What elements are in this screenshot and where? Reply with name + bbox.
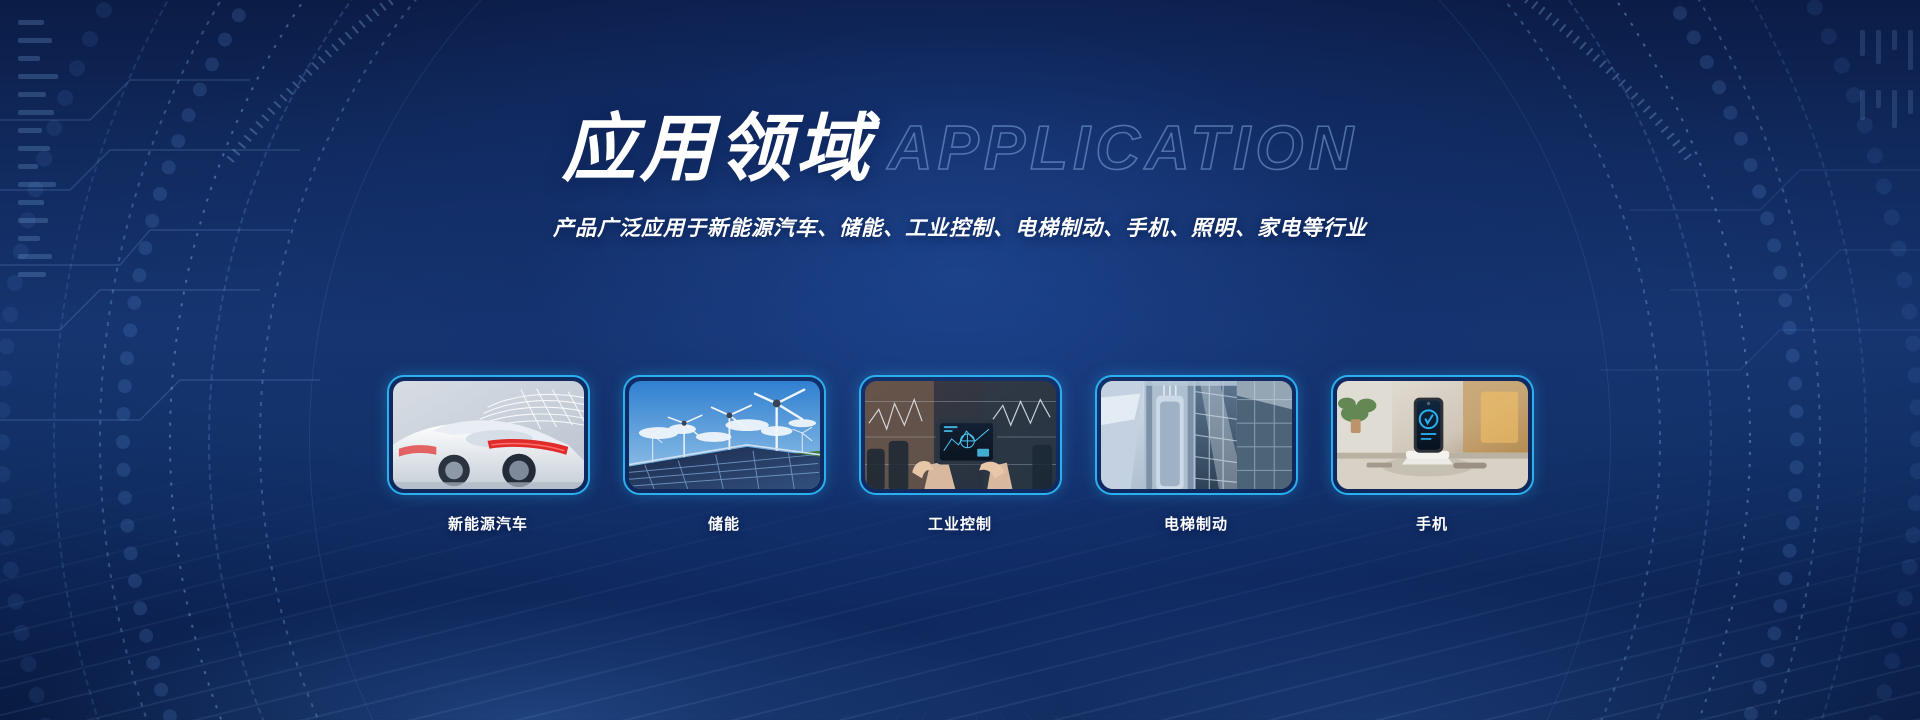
application-card-list: 新能源汽车 bbox=[0, 375, 1920, 534]
card-thumbnail bbox=[865, 381, 1056, 489]
application-banner: 应用领域APPLICATION 产品广泛应用于新能源汽车、储能、工业控制、电梯制… bbox=[0, 0, 1920, 720]
card-label: 电梯制动 bbox=[1095, 513, 1298, 534]
card-thumbnail bbox=[1337, 381, 1528, 489]
banner-heading: 应用领域APPLICATION 产品广泛应用于新能源汽车、储能、工业控制、电梯制… bbox=[0, 112, 1920, 242]
card-frame[interactable] bbox=[1331, 375, 1534, 495]
card-frame[interactable] bbox=[623, 375, 826, 495]
card-thumbnail bbox=[393, 381, 584, 489]
arc-decoration bbox=[0, 0, 1920, 720]
card-frame[interactable] bbox=[387, 375, 590, 495]
page-subtitle: 产品广泛应用于新能源汽车、储能、工业控制、电梯制动、手机、照明、家电等行业 bbox=[0, 212, 1920, 242]
industrial-control-tablet-icon bbox=[865, 381, 1056, 489]
arc-ticks bbox=[0, 0, 1920, 720]
card-label: 手机 bbox=[1331, 513, 1534, 534]
application-card[interactable]: 电梯制动 bbox=[1095, 375, 1298, 534]
card-frame[interactable] bbox=[859, 375, 1062, 495]
card-label: 储能 bbox=[623, 513, 826, 534]
card-thumbnail bbox=[629, 381, 820, 489]
perspective-grid-floor bbox=[0, 710, 1920, 720]
application-card[interactable]: 手机 bbox=[1331, 375, 1534, 534]
card-label: 新能源汽车 bbox=[387, 513, 590, 534]
application-card[interactable]: 储能 bbox=[623, 375, 826, 534]
elevator-shaft-icon bbox=[1101, 381, 1292, 489]
application-card[interactable]: 新能源汽车 bbox=[387, 375, 590, 534]
smartphone-wireless-charger-icon bbox=[1337, 381, 1528, 489]
wind-turbines-solar-panels-icon bbox=[629, 381, 820, 489]
page-title: 应用领域 bbox=[562, 112, 874, 186]
card-label: 工业控制 bbox=[859, 513, 1062, 534]
page-title-en: APPLICATION bbox=[888, 118, 1359, 180]
card-frame[interactable] bbox=[1095, 375, 1298, 495]
card-thumbnail bbox=[1101, 381, 1292, 489]
application-card[interactable]: 工业控制 bbox=[859, 375, 1062, 534]
electric-sports-car-icon bbox=[393, 381, 584, 489]
